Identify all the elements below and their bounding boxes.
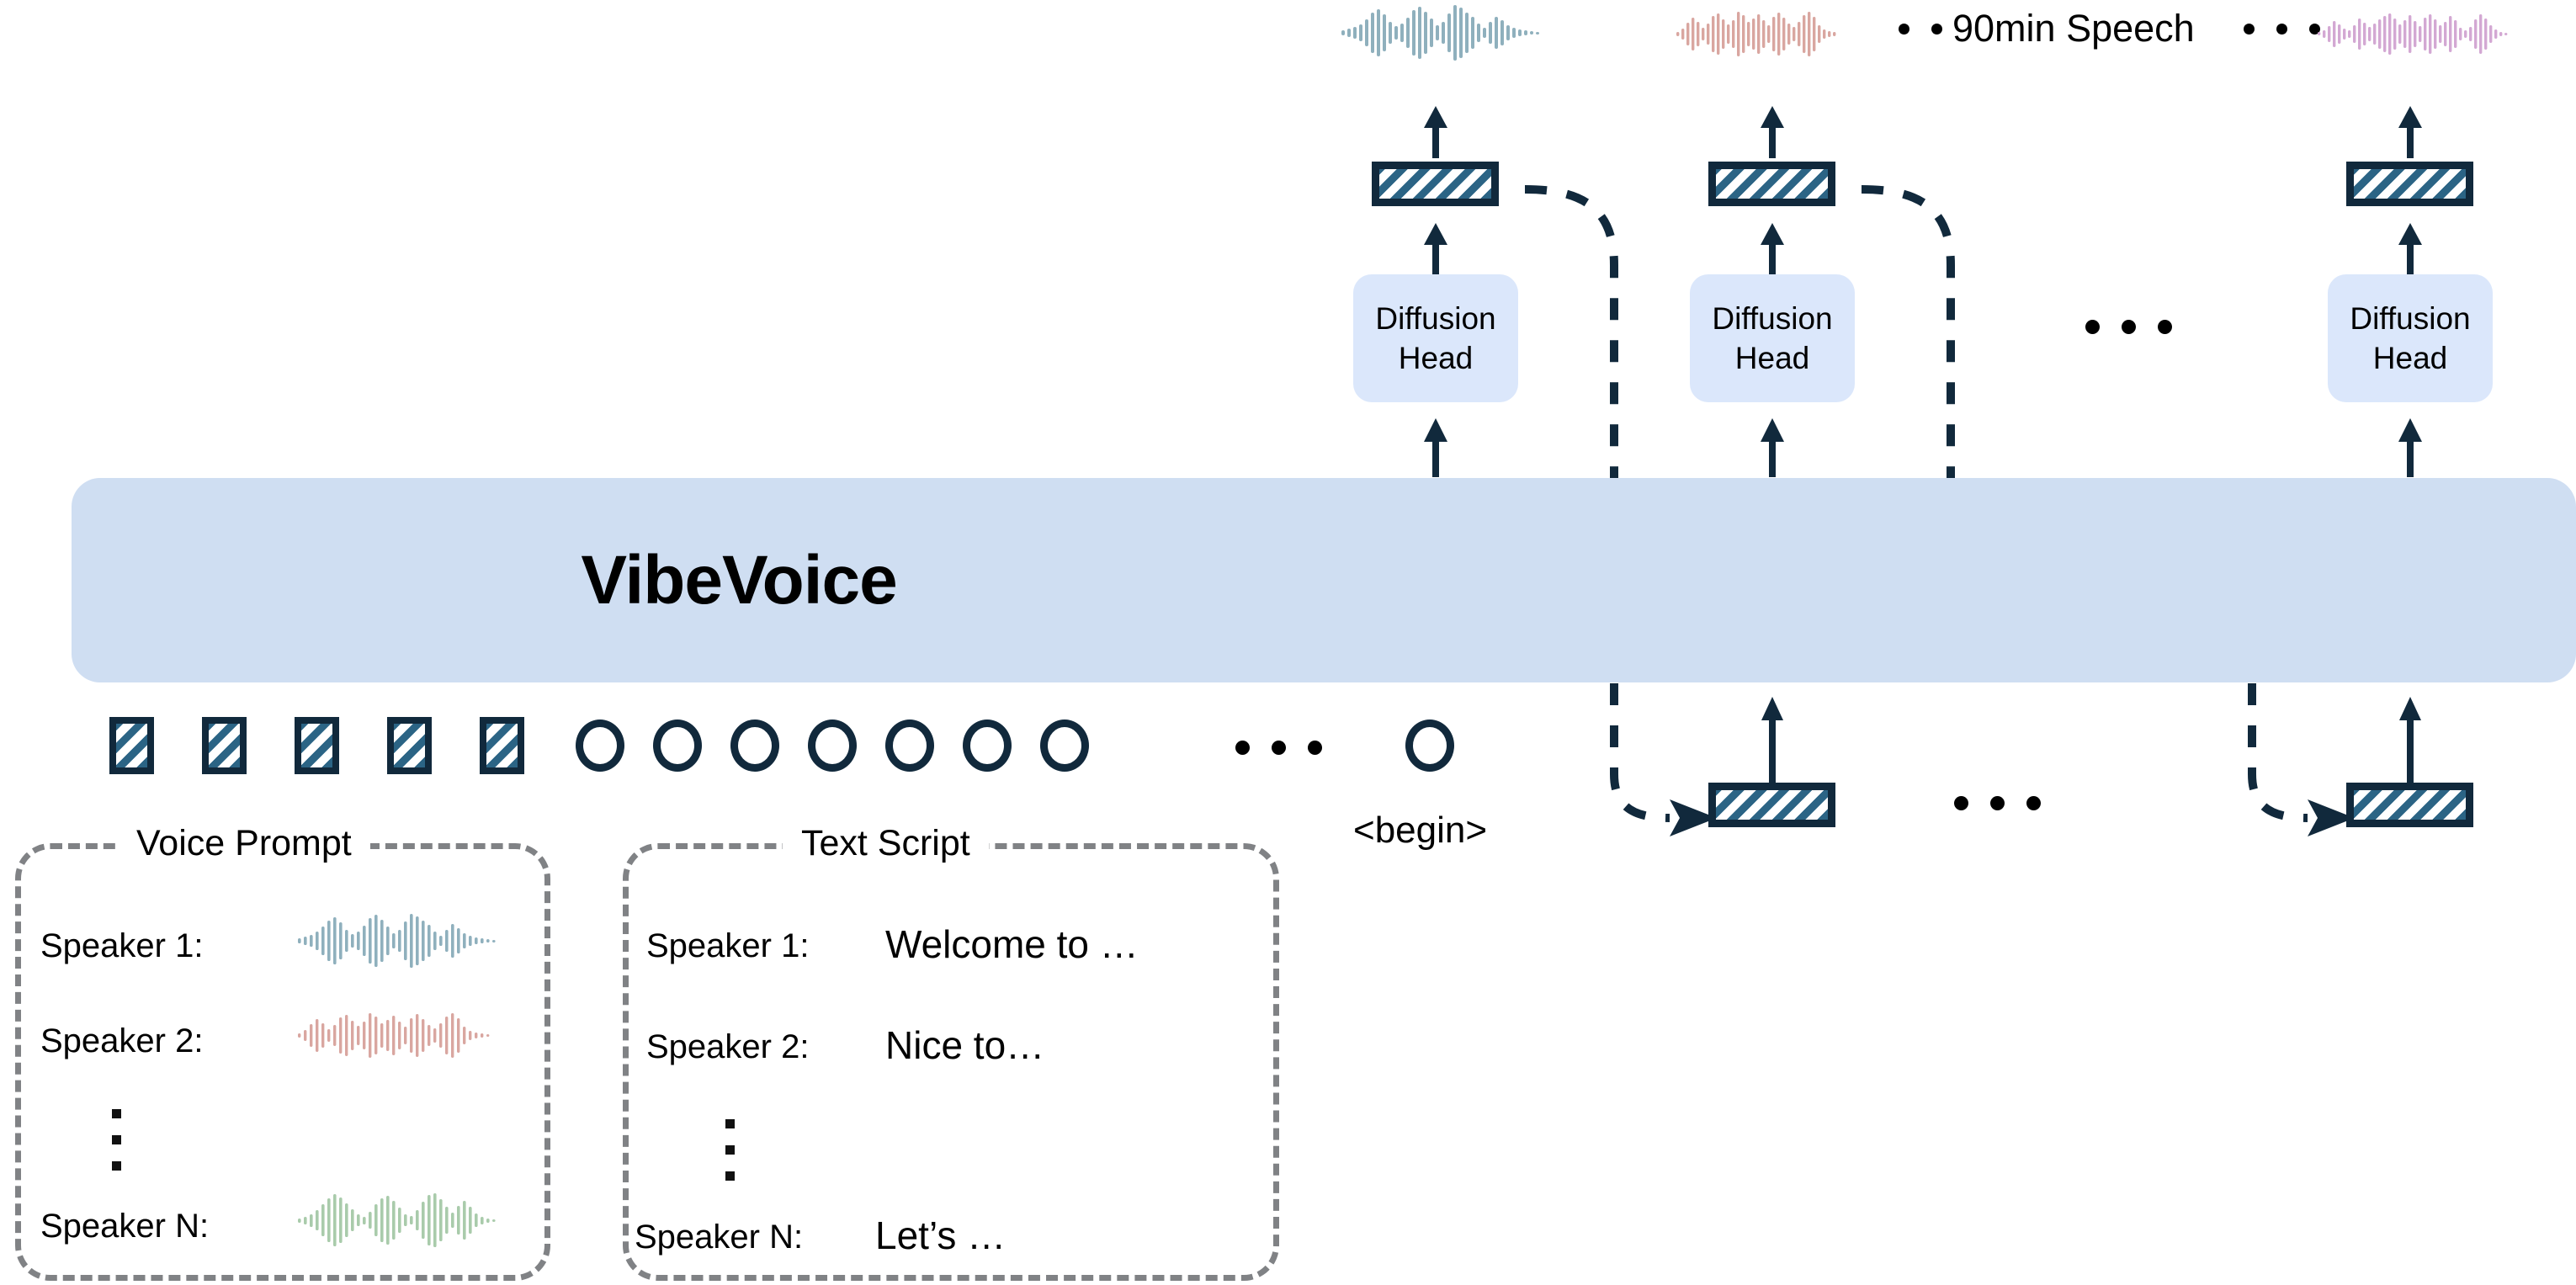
- vibevoice-model-bar[interactable]: VibeVoice: [72, 478, 2576, 682]
- diffusion-head-label-line2: Head: [1735, 338, 1809, 378]
- fed-token-ellipsis: [1954, 796, 2041, 810]
- voice-prompt-token-4: [387, 717, 432, 774]
- arrow-up-icon: [2397, 697, 2424, 789]
- text-token-3: [730, 719, 779, 772]
- text-script-vertical-ellipsis: [725, 1119, 735, 1181]
- voice-prompt-token-5: [480, 717, 524, 774]
- arrow-up-icon: [1759, 106, 1786, 158]
- waveform-icon: [1340, 5, 1542, 61]
- feedback-curve-top-1: [1523, 181, 1649, 484]
- text-token-2: [653, 719, 702, 772]
- diffusion-head-1[interactable]: Diffusion Head: [1353, 274, 1518, 402]
- output-waveform-3: [2316, 12, 2518, 56]
- voice-prompt-row-2-label: Speaker 2:: [40, 1022, 203, 1060]
- output-waveform-2: [1675, 10, 1843, 57]
- arrow-up-icon: [2397, 106, 2424, 158]
- arrow-model-to-head-3: [2397, 418, 2424, 477]
- diffusion-head-label-line1: Diffusion: [2350, 299, 2470, 338]
- voice-prompt-row-3-waveform: [296, 1193, 505, 1247]
- text-token-1: [576, 719, 624, 772]
- diffusion-head-2[interactable]: Diffusion Head: [1690, 274, 1855, 402]
- arrow-up-icon: [2397, 223, 2424, 275]
- text-token-4: [808, 719, 857, 772]
- page-title: VibeVoice: [581, 541, 896, 620]
- voice-prompt-row-3-label: Speaker N:: [40, 1208, 209, 1245]
- acoustic-token-fed-2: [2346, 783, 2473, 827]
- diagram-canvas: 90min Speech: [0, 0, 2576, 1285]
- text-token-ellipsis: [1235, 741, 1322, 755]
- acoustic-token-out-2: [1708, 162, 1835, 206]
- text-script-row-2-text: Nice to…: [885, 1022, 1044, 1068]
- arrow-model-to-head-1: [1422, 418, 1449, 477]
- feedback-curve-top-2: [1860, 181, 1986, 484]
- voice-prompt-token-1: [109, 717, 154, 774]
- text-script-row-3-label: Speaker N:: [635, 1219, 803, 1256]
- diffusion-head-label-line2: Head: [1399, 338, 1473, 378]
- arrow-head-to-token-2: [1759, 223, 1786, 275]
- text-token-5: [885, 719, 934, 772]
- waveform-icon: [296, 1012, 505, 1059]
- diffusion-head-ellipsis: [2085, 320, 2172, 334]
- voice-prompt-legend: Voice Prompt: [118, 823, 370, 864]
- text-script-row-1-text: Welcome to …: [885, 921, 1139, 967]
- diffusion-head-label-line1: Diffusion: [1712, 299, 1832, 338]
- dashed-connector-icon: [1523, 181, 1649, 484]
- arrow-model-to-head-2: [1759, 418, 1786, 477]
- output-ellipsis-right: [2244, 24, 2320, 35]
- output-speech-label: 90min Speech: [1952, 7, 2195, 50]
- waveform-icon: [296, 1193, 505, 1247]
- diffusion-head-label-line2: Head: [2373, 338, 2447, 378]
- voice-prompt-token-3: [295, 717, 339, 774]
- waveform-icon: [296, 914, 505, 968]
- arrow-up-to-speech-1: [1422, 106, 1449, 158]
- arrow-up-icon: [1759, 697, 1786, 789]
- voice-prompt-row-2-waveform: [296, 1012, 505, 1059]
- arrow-up-icon: [1759, 418, 1786, 477]
- text-script-row-3-text: Let’s …: [875, 1213, 1006, 1258]
- text-script-row-2-label: Speaker 2:: [646, 1028, 809, 1066]
- arrow-up-icon: [1422, 418, 1449, 477]
- arrow-token-to-model-1: [1759, 697, 1786, 789]
- voice-prompt-token-2: [202, 717, 247, 774]
- acoustic-token-fed-1: [1708, 783, 1835, 827]
- arrow-up-icon: [1422, 106, 1449, 158]
- arrow-up-icon: [2397, 418, 2424, 477]
- arrow-up-to-speech-2: [1759, 106, 1786, 158]
- acoustic-token-out-3: [2346, 162, 2473, 206]
- output-ellipsis-left: [1899, 24, 1942, 35]
- begin-token-label: <begin>: [1353, 810, 1487, 852]
- diffusion-head-label-line1: Diffusion: [1375, 299, 1495, 338]
- arrow-head-to-token-1: [1422, 223, 1449, 275]
- waveform-icon: [2316, 12, 2518, 56]
- diffusion-head-3[interactable]: Diffusion Head: [2328, 274, 2493, 402]
- arrow-up-icon: [1422, 223, 1449, 275]
- text-script-row-1-label: Speaker 1:: [646, 927, 809, 965]
- voice-prompt-row-1-waveform: [296, 914, 505, 968]
- voice-prompt-vertical-ellipsis: [112, 1109, 121, 1171]
- text-token-6: [963, 719, 1012, 772]
- text-script-legend: Text Script: [783, 823, 989, 864]
- voice-prompt-row-1-label: Speaker 1:: [40, 927, 203, 965]
- dashed-connector-icon: [1860, 181, 1986, 484]
- arrow-up-to-speech-3: [2397, 106, 2424, 158]
- text-token-7: [1040, 719, 1089, 772]
- begin-token-circle: [1405, 719, 1454, 772]
- waveform-icon: [1675, 10, 1843, 57]
- arrow-head-to-token-3: [2397, 223, 2424, 275]
- arrow-up-icon: [1759, 223, 1786, 275]
- output-waveform-1: [1340, 5, 1542, 61]
- acoustic-token-out-1: [1372, 162, 1499, 206]
- arrow-token-to-model-2: [2397, 697, 2424, 789]
